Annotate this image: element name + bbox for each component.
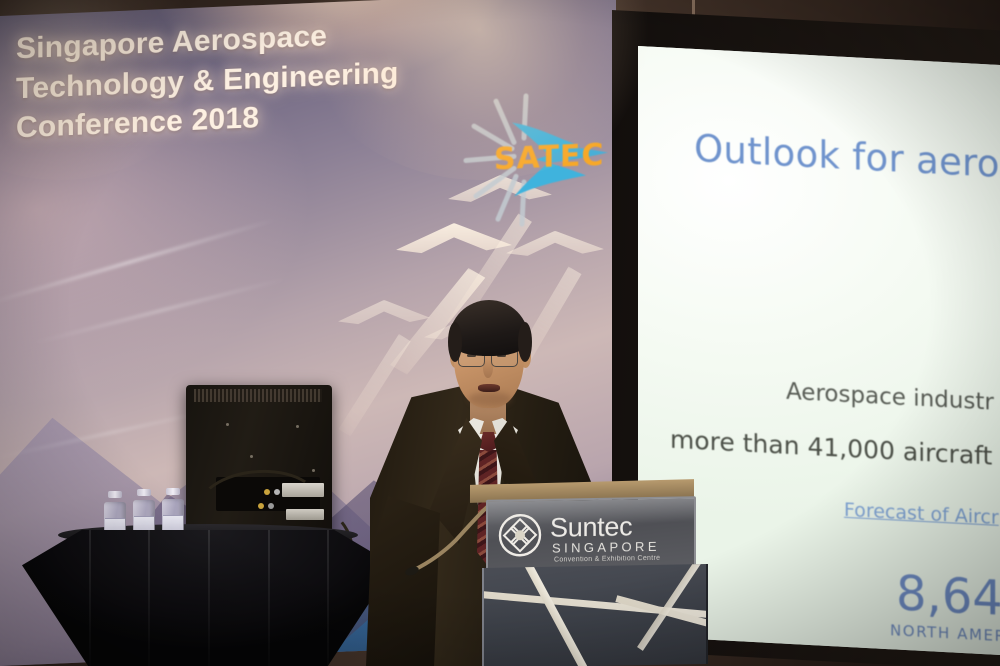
monitor-screw (250, 455, 253, 458)
drape-fold (208, 530, 210, 666)
drape-fold (327, 530, 329, 666)
drape-fold (268, 530, 270, 666)
nose (483, 358, 493, 378)
bottle-cap (108, 491, 122, 498)
podium-stripe (523, 564, 600, 666)
bottle-cap (137, 489, 151, 496)
suntec-medallion-icon (498, 513, 542, 558)
podium-city-name: SINGAPORE (552, 539, 660, 556)
hair-side (518, 322, 532, 362)
side-table-drape (22, 530, 394, 666)
drape-fold (148, 530, 150, 666)
monitor-screw (226, 423, 229, 426)
backdrop-streak (33, 277, 288, 345)
drape-fold (89, 530, 91, 666)
satec-wordmark: SATEC (494, 138, 604, 178)
monitor-vent (194, 389, 322, 402)
hair-side (448, 322, 462, 362)
slide-big-number: 8,640 (896, 566, 1000, 629)
conference-photo: Singapore Aerospace Technology & Enginee… (0, 0, 1000, 666)
slide-body-line-1: Aerospace industr (786, 379, 994, 416)
podium-branding-sign: Suntec SINGAPORE Convention & Exhibition… (486, 496, 696, 574)
podium-tagline: Convention & Exhibition Centre (554, 555, 660, 564)
satec-logo: SATEC (452, 82, 612, 239)
backdrop-title: Singapore Aerospace Technology & Enginee… (16, 13, 399, 148)
monitor-screw (312, 469, 315, 472)
mouth (478, 384, 500, 392)
monitor-screw (296, 425, 299, 428)
slide-title: Outlook for aerosp (694, 127, 1000, 188)
chin-shadow (468, 392, 512, 406)
bottle-cap (166, 488, 180, 495)
podium-body (482, 564, 708, 666)
satec-logo-svg: SATEC (452, 82, 612, 239)
slide-subtitle: Forecast of Aircr (844, 499, 999, 529)
slide-body-line-2: more than 41,000 aircraft a (670, 425, 1000, 472)
